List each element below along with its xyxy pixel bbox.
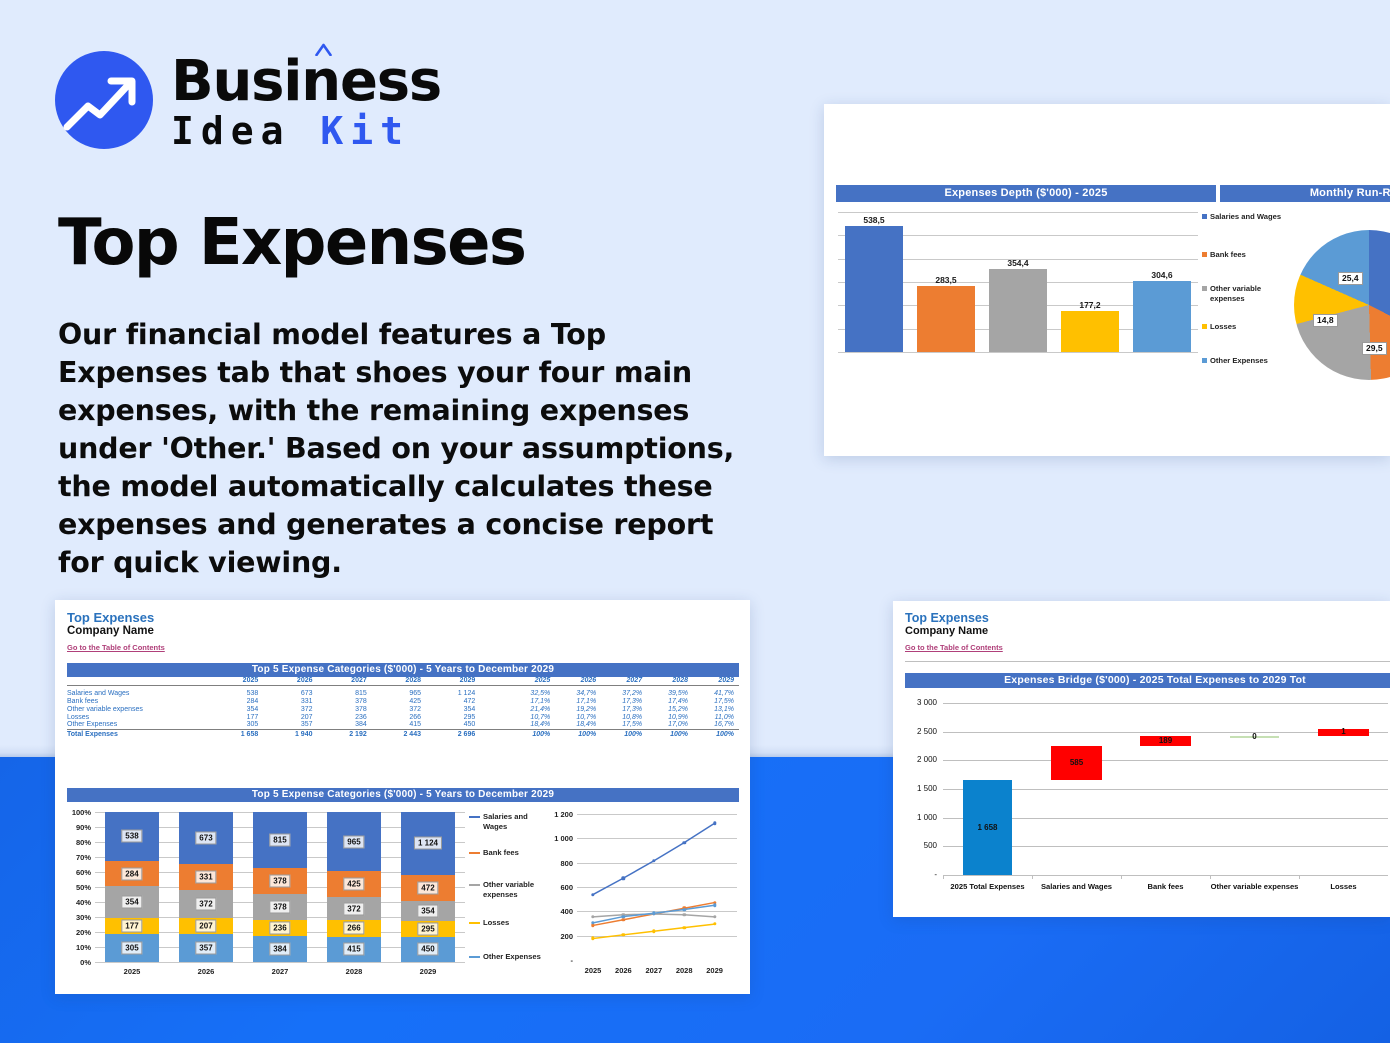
cell-value: 1 658 <box>211 729 265 738</box>
axis-tick-mark <box>1299 875 1300 879</box>
axis-tick-mark <box>1210 875 1211 879</box>
y-axis-tick: 500 <box>903 841 937 850</box>
cell-value: 354 <box>428 705 482 713</box>
segment-value-label: 378 <box>269 874 290 887</box>
page-description: Our financial model features a Top Expen… <box>58 316 758 582</box>
cell-value: 2 696 <box>428 729 482 738</box>
legend-item-1: Bank fees <box>1202 250 1288 260</box>
circumflex-icon <box>315 43 332 56</box>
top5-expenses-table: 2025202620272028202920252026202720282029… <box>67 677 739 738</box>
x-axis-tick: 2027 <box>243 967 317 976</box>
legend-item-3: Losses <box>469 918 541 928</box>
x-axis-tick: 2029 <box>699 966 731 975</box>
pie-slices <box>1294 230 1390 380</box>
logo-wordmark-business: Business <box>171 54 441 110</box>
cell-percent: 17,1% <box>555 698 601 706</box>
x-axis-tick: 2029 <box>391 967 465 976</box>
cell-value: 207 <box>265 713 319 721</box>
segment-Losses: 207 <box>179 918 234 934</box>
segment-value-label: 354 <box>417 904 438 917</box>
cell-value: 415 <box>374 721 428 729</box>
segment-Bank fees: 472 <box>401 875 456 901</box>
segment-value-label: 236 <box>269 921 290 934</box>
brand-logo: Business Idea Kit <box>55 50 441 150</box>
segment-value-label: 357 <box>195 942 216 955</box>
x-axis-category: Salaries and Wages <box>1032 882 1121 891</box>
logo-idea-text: Idea <box>171 109 291 153</box>
gridline <box>943 703 1388 704</box>
chart-title-monthly-run-rate: Monthly Run-Rate ($'000) <box>1220 185 1390 202</box>
cell-value: 177 <box>211 713 265 721</box>
sheet-company-name: Company Name <box>67 625 750 637</box>
row-label: Total Expenses <box>67 729 211 738</box>
segment-value-label: 284 <box>121 867 142 880</box>
segment-Other Expenses: 384 <box>253 936 308 962</box>
segment-Other variable expenses: 372 <box>179 890 234 919</box>
gridline <box>943 760 1388 761</box>
cell-value: 450 <box>428 721 482 729</box>
segment-value-label: 207 <box>195 920 216 933</box>
cell-percent: 41,7% <box>693 690 739 698</box>
spacer <box>482 677 509 686</box>
y-axis-tick: 2 000 <box>903 755 937 764</box>
cell-value: 295 <box>428 713 482 721</box>
cell-value: 815 <box>320 690 374 698</box>
legend-swatch <box>1202 358 1207 363</box>
x-axis-tick: 2026 <box>607 966 639 975</box>
gridline <box>95 962 465 963</box>
legend-label: Bank fees <box>483 848 519 858</box>
gridline <box>838 352 1198 353</box>
chart-legend-expenses-depth: Salaries and WagesBank feesOther variabl… <box>1202 212 1292 372</box>
segment-value-label: 305 <box>121 942 142 955</box>
cell-value: 384 <box>320 721 374 729</box>
segment-Salaries and Wages: 965 <box>327 812 382 871</box>
y-axis-tick: 20% <box>69 928 91 937</box>
column-header: 2029 <box>428 677 482 686</box>
cell-value: 331 <box>265 698 319 706</box>
y-axis-tick: 100% <box>69 808 91 817</box>
waterfall-value-label: 1 658 <box>963 823 1013 832</box>
stacked-column-2028: 965425372266415 <box>327 812 382 962</box>
cell-percent: 39,5% <box>647 690 693 698</box>
cell-percent: 10,7% <box>555 713 601 721</box>
chart-band-title: Top 5 Expense Categories ($'000) - 5 Yea… <box>67 788 739 802</box>
legend-item-2: Other variable expenses <box>1202 284 1288 303</box>
waterfall-value-label: 1 <box>1318 727 1370 736</box>
y-axis-tick: 1 000 <box>903 813 937 822</box>
y-axis-tick: 3 000 <box>903 698 937 707</box>
legend-line <box>469 816 480 818</box>
cell-value: 1 124 <box>428 690 482 698</box>
column-header-pct: 2029 <box>693 677 739 686</box>
segment-Other variable expenses: 354 <box>105 886 160 918</box>
waterfall-value-label: 0 <box>1230 732 1278 741</box>
sheet-header-c: Top Expenses Company Name Go to the Tabl… <box>893 601 1390 655</box>
column-header: 2025 <box>211 677 265 686</box>
cell-value: 2 192 <box>320 729 374 738</box>
bar-1 <box>917 286 975 352</box>
x-axis-category: Other variable expenses <box>1210 882 1299 891</box>
segment-value-label: 538 <box>121 830 142 843</box>
screenshot-panel-expenses-depth[interactable]: Expenses Depth ($'000) - 2025 Monthly Ru… <box>824 104 1390 456</box>
sheet-title-c: Top Expenses <box>905 611 1390 625</box>
expenses-line-chart: -2004006008001 0001 20020252026202720282… <box>547 808 743 980</box>
bar-value-label: 354,4 <box>989 258 1047 268</box>
axis-tick-mark <box>1032 875 1033 879</box>
legend-item-4: Other Expenses <box>1202 356 1288 366</box>
cell-percent: 17,3% <box>601 705 647 713</box>
screenshot-panel-top5-categories[interactable]: Top Expenses Company Name Go to the Tabl… <box>55 600 750 994</box>
table-of-contents-link-c[interactable]: Go to the Table of Contents <box>905 643 1003 652</box>
cell-percent: 17,5% <box>693 698 739 706</box>
segment-value-label: 331 <box>195 870 216 883</box>
cell-percent: 16,7% <box>693 721 739 729</box>
stacked-column-2025: 538284354177305 <box>105 812 160 962</box>
y-axis-tick: 80% <box>69 838 91 847</box>
segment-value-label: 177 <box>121 920 142 933</box>
y-axis-tick: - <box>903 870 937 879</box>
legend-label: Salaries and Wages <box>1210 212 1281 222</box>
row-label: Salaries and Wages <box>67 690 211 698</box>
legend-line <box>469 852 480 854</box>
cell-percent: 17,5% <box>601 721 647 729</box>
x-axis-tick: 2027 <box>638 966 670 975</box>
bar-value-label: 304,6 <box>1133 270 1191 280</box>
spacer <box>482 705 509 713</box>
sheet-company-name-c: Company Name <box>905 625 1390 637</box>
x-axis-tick: 2025 <box>577 966 609 975</box>
column-header: 2027 <box>320 677 374 686</box>
axis-tick-mark <box>1121 875 1122 879</box>
bar-4 <box>1133 281 1191 352</box>
cell-value: 354 <box>211 705 265 713</box>
legend-label: Other Expenses <box>483 952 541 962</box>
row-label: Bank fees <box>67 698 211 706</box>
pie-data-label: 25,4 <box>1338 272 1363 285</box>
cell-value: 266 <box>374 713 428 721</box>
sheet-title: Top Expenses <box>67 610 750 625</box>
pie-data-label: 29,5 <box>1362 342 1387 355</box>
cell-value: 372 <box>374 705 428 713</box>
cell-percent: 21,4% <box>509 705 555 713</box>
column-header-pct: 2025 <box>509 677 555 686</box>
y-axis-tick: 60% <box>69 868 91 877</box>
row-label: Other variable expenses <box>67 705 211 713</box>
segment-value-label: 673 <box>195 832 216 845</box>
x-axis-tick: 2026 <box>169 967 243 976</box>
gridline <box>838 212 1198 213</box>
legend-line <box>469 956 480 958</box>
legend-item-3: Losses <box>1202 322 1288 332</box>
segment-value-label: 415 <box>343 943 364 956</box>
cell-percent: 13,1% <box>693 705 739 713</box>
cell-value: 378 <box>320 698 374 706</box>
spacer <box>482 721 509 729</box>
stacked-column-2029: 1 124472354295450 <box>401 812 456 962</box>
y-axis-tick: 0% <box>69 958 91 967</box>
pie-data-label: 14,8 <box>1313 314 1338 327</box>
screenshot-panel-expenses-bridge[interactable]: Top Expenses Company Name Go to the Tabl… <box>893 601 1390 917</box>
cell-percent: 37,2% <box>601 690 647 698</box>
legend-line <box>469 922 480 924</box>
cell-percent: 34,7% <box>555 690 601 698</box>
spacer <box>482 698 509 706</box>
monthly-run-rate-pie-chart: 25,414,829,5 <box>1294 216 1390 376</box>
spacer <box>482 713 509 721</box>
cell-percent: 17,4% <box>647 698 693 706</box>
legend-item-0: Salaries and Wages <box>1202 212 1288 222</box>
cell-value: 673 <box>265 690 319 698</box>
cell-percent: 11,0% <box>693 713 739 721</box>
legend-swatch <box>1202 214 1207 219</box>
segment-value-label: 472 <box>417 881 438 894</box>
spacer <box>482 729 509 738</box>
segment-Bank fees: 284 <box>105 861 160 887</box>
cell-value: 1 940 <box>265 729 319 738</box>
cell-percent: 17,0% <box>647 721 693 729</box>
cell-value: 472 <box>428 698 482 706</box>
waterfall-value-label: 189 <box>1140 736 1192 745</box>
column-header-pct: 2027 <box>601 677 647 686</box>
header-blank <box>67 677 211 686</box>
segment-Losses: 295 <box>401 921 456 937</box>
legend-swatch <box>1202 252 1207 257</box>
segment-Bank fees: 378 <box>253 868 308 894</box>
table-row: Other variable expenses35437237837235421… <box>67 705 739 713</box>
segment-value-label: 384 <box>269 942 290 955</box>
expenses-bridge-waterfall-chart: -5001 0001 5002 0002 5003 0001 6582025 T… <box>903 697 1390 897</box>
cell-value: 236 <box>320 713 374 721</box>
x-axis-category: 2025 Total Expenses <box>943 882 1032 891</box>
bar-value-label: 177,2 <box>1061 300 1119 310</box>
cell-value: 378 <box>320 705 374 713</box>
cell-percent: 32,5% <box>509 690 555 698</box>
y-axis-tick: 70% <box>69 853 91 862</box>
cell-value: 425 <box>374 698 428 706</box>
cell-value: 305 <box>211 721 265 729</box>
segment-Salaries and Wages: 538 <box>105 812 160 861</box>
legend-item-1: Bank fees <box>469 848 541 858</box>
segment-Salaries and Wages: 1 124 <box>401 812 456 875</box>
axis-tick-mark <box>943 875 944 879</box>
segment-Bank fees: 331 <box>179 864 234 890</box>
cell-percent: 100% <box>693 729 739 738</box>
legend-label: Losses <box>1210 322 1236 332</box>
segment-Salaries and Wages: 673 <box>179 812 234 864</box>
sheet-header-b: Top Expenses Company Name Go to the Tabl… <box>55 600 750 655</box>
stacked-column-2026: 673331372207357 <box>179 812 234 962</box>
column-header: 2028 <box>374 677 428 686</box>
segment-value-label: 354 <box>121 896 142 909</box>
cell-percent: 19,2% <box>555 705 601 713</box>
legend-label: Bank fees <box>1210 250 1246 260</box>
bridge-band-title: Expenses Bridge ($'000) - 2025 Total Exp… <box>905 673 1390 688</box>
segment-value-label: 266 <box>343 922 364 935</box>
stacked-100-bar-chart: 0%10%20%30%40%50%60%70%80%90%100%5382843… <box>69 808 469 980</box>
bar-value-label: 538,5 <box>845 215 903 225</box>
column-header-pct: 2028 <box>647 677 693 686</box>
row-label: Losses <box>67 713 211 721</box>
cell-value: 538 <box>211 690 265 698</box>
x-axis-tick: 2028 <box>317 967 391 976</box>
cell-percent: 100% <box>647 729 693 738</box>
segment-Other Expenses: 305 <box>105 934 160 962</box>
legend-label: Losses <box>483 918 509 928</box>
legend-label: Other variable expenses <box>483 880 541 899</box>
cell-percent: 100% <box>555 729 601 738</box>
cell-value: 965 <box>374 690 428 698</box>
cell-value: 357 <box>265 721 319 729</box>
segment-value-label: 1 124 <box>414 837 442 850</box>
divider <box>905 661 1390 662</box>
segment-value-label: 295 <box>417 922 438 935</box>
y-axis-tick: 50% <box>69 883 91 892</box>
legend-label: Other variable expenses <box>1210 284 1288 303</box>
cell-percent: 10,9% <box>647 713 693 721</box>
legend-label: Salaries and Wages <box>483 812 541 831</box>
segment-value-label: 425 <box>343 878 364 891</box>
segment-Bank fees: 425 <box>327 871 382 897</box>
cell-percent: 17,1% <box>509 698 555 706</box>
cell-percent: 10,7% <box>509 713 555 721</box>
legend-swatch <box>1202 286 1207 291</box>
segment-Other variable expenses: 378 <box>253 894 308 920</box>
cell-percent: 10,8% <box>601 713 647 721</box>
segment-value-label: 450 <box>417 943 438 956</box>
table-band-title: Top 5 Expense Categories ($'000) - 5 Yea… <box>67 663 739 677</box>
legend-item-4: Other Expenses <box>469 952 541 962</box>
y-axis-tick: 40% <box>69 898 91 907</box>
logo-wordmark-idea-kit: Idea Kit <box>171 112 441 150</box>
line-series-paths <box>547 808 743 980</box>
cell-percent: 100% <box>601 729 647 738</box>
segment-Other Expenses: 357 <box>179 934 234 962</box>
x-axis-tick: 2028 <box>668 966 700 975</box>
logo-kit-text: Kit <box>320 109 410 153</box>
y-axis-tick: 30% <box>69 913 91 922</box>
spacer <box>482 690 509 698</box>
table-of-contents-link[interactable]: Go to the Table of Contents <box>67 643 165 652</box>
row-label: Other Expenses <box>67 721 211 729</box>
panel-a-title-row: Expenses Depth ($'000) - 2025 Monthly Ru… <box>836 185 1390 202</box>
segment-Other Expenses: 450 <box>401 937 456 962</box>
x-axis-tick: 2025 <box>95 967 169 976</box>
segment-value-label: 372 <box>195 898 216 911</box>
bar-3 <box>1061 311 1119 352</box>
stacked-column-2027: 815378378236384 <box>253 812 308 962</box>
legend-item-0: Salaries and Wages <box>469 812 541 831</box>
y-axis-tick: 10% <box>69 943 91 952</box>
table-row: Bank fees28433137842547217,1%17,1%17,3%1… <box>67 698 739 706</box>
y-axis-tick: 90% <box>69 823 91 832</box>
cell-percent: 18,4% <box>509 721 555 729</box>
cell-percent: 100% <box>509 729 555 738</box>
segment-Salaries and Wages: 815 <box>253 812 308 868</box>
legend-swatch <box>1202 324 1207 329</box>
chart-legend-stacked: Salaries and WagesBank feesOther variabl… <box>469 812 545 972</box>
waterfall-value-label: 585 <box>1051 758 1103 767</box>
column-header-pct: 2026 <box>555 677 601 686</box>
segment-Other Expenses: 415 <box>327 937 382 962</box>
segment-Other variable expenses: 372 <box>327 897 382 920</box>
cell-value: 372 <box>265 705 319 713</box>
legend-label: Other Expenses <box>1210 356 1268 366</box>
column-header: 2026 <box>265 677 319 686</box>
expenses-depth-bar-chart: 538,5283,5354,4177,2304,6 <box>838 212 1198 372</box>
segment-value-label: 378 <box>269 900 290 913</box>
y-axis-tick: 2 500 <box>903 727 937 736</box>
segment-Losses: 177 <box>105 918 160 934</box>
table-header-row: 2025202620272028202920252026202720282029 <box>67 677 739 686</box>
table-row: Total Expenses1 6581 9402 1922 4432 6961… <box>67 729 739 738</box>
table-row: Salaries and Wages5386738159651 12432,5%… <box>67 690 739 698</box>
segment-value-label: 815 <box>269 833 290 846</box>
segment-value-label: 372 <box>343 902 364 915</box>
bar-0 <box>845 226 903 352</box>
cell-value: 2 443 <box>374 729 428 738</box>
cell-percent: 15,2% <box>647 705 693 713</box>
gridline <box>943 875 1388 876</box>
bar-2 <box>989 269 1047 352</box>
segment-Other variable expenses: 354 <box>401 901 456 921</box>
table-row: Losses17720723626629510,7%10,7%10,8%10,9… <box>67 713 739 721</box>
cell-percent: 18,4% <box>555 721 601 729</box>
segment-value-label: 965 <box>343 835 364 848</box>
chart-title-expenses-depth: Expenses Depth ($'000) - 2025 <box>836 185 1216 202</box>
legend-item-2: Other variable expenses <box>469 880 541 899</box>
table-row: Other Expenses30535738441545018,4%18,4%1… <box>67 721 739 729</box>
legend-line <box>469 884 480 886</box>
y-axis-tick: 1 500 <box>903 784 937 793</box>
cell-percent: 17,3% <box>601 698 647 706</box>
segment-Losses: 236 <box>253 920 308 936</box>
bar-value-label: 283,5 <box>917 275 975 285</box>
page-title: Top Expenses <box>58 206 525 280</box>
x-axis-category: Losses <box>1299 882 1388 891</box>
segment-Losses: 266 <box>327 920 382 936</box>
cell-value: 284 <box>211 698 265 706</box>
x-axis-category: Bank fees <box>1121 882 1210 891</box>
logo-circle-icon <box>55 51 153 149</box>
